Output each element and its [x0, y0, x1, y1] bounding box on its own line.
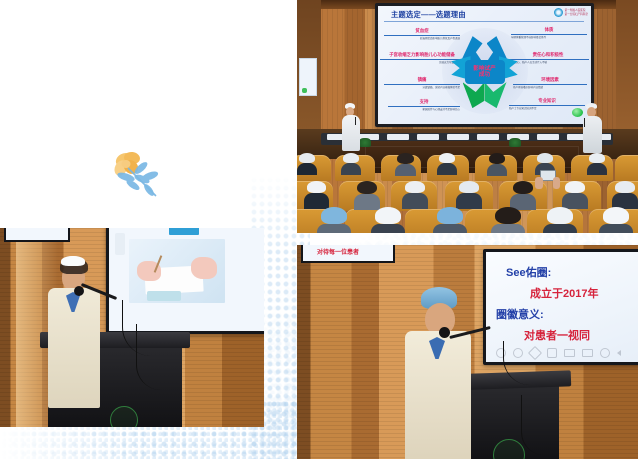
presenter-right: [583, 103, 602, 153]
slide-line-4: 对患者一视同: [524, 327, 590, 343]
label-title: 体质: [511, 27, 587, 33]
wall-monitor-left: 对待每一位患者: [301, 245, 395, 263]
audience-member: [565, 181, 585, 203]
plant-decor: [359, 138, 371, 147]
slide-topic-selection: 主题选定——选题理由 第一附属人民医院 第一分院妇产科科室 贫血症 妊娠期贫血影…: [378, 6, 591, 124]
audience-member: [537, 153, 553, 171]
more-icon[interactable]: [600, 348, 610, 358]
photo-nurse-presenting-bottom-right: 对待每一位患者 See佑圈: 成立于2017年 圈徽意义: 对患者一视同: [297, 245, 638, 459]
speaker-nurse: [405, 287, 471, 459]
audience-member: [307, 181, 326, 203]
speaker-nurse: [48, 256, 100, 406]
audience-member: [603, 207, 629, 233]
pinwheel-blade: [463, 82, 485, 108]
audience-member: [437, 207, 463, 233]
hospital-name-line1: 第一附属人民医院: [565, 9, 588, 12]
hospital-name-line2: 第一分院妇产科科室: [565, 13, 588, 16]
photo-nurse-presenting-bottom-left: [0, 228, 264, 427]
hospital-logo: 第一附属人民医院 第一分院妇产科科室: [554, 8, 588, 17]
audience-member: [397, 153, 414, 171]
hospital-emblem-icon: [110, 406, 138, 427]
watercolor-flower-icon: [104, 146, 174, 202]
plant-decor: [509, 138, 521, 147]
slide-line-3: 圈徽意义:: [496, 306, 544, 322]
photo-auditorium-wide-shot: 主题选定——选题理由 第一附属人民医院 第一分院妇产科科室 贫血症 妊娠期贫血影…: [297, 0, 638, 233]
wall-monitor: [299, 58, 317, 96]
gloved-hand-right: [191, 257, 217, 279]
presenter-left: [342, 103, 360, 151]
diagram-label-right-3: 环境因素 待产环境嘈杂影响产妇情绪: [513, 77, 587, 89]
center-label-line2: 成功: [479, 72, 490, 78]
label-title: 贫血症: [384, 28, 460, 34]
raised-hand: [553, 177, 560, 189]
green-dot-icon: [302, 88, 307, 93]
audience-member: [343, 153, 359, 171]
spotlight-icon[interactable]: [547, 348, 557, 358]
pinwheel-blade: [485, 82, 507, 108]
camera-icon[interactable]: [564, 349, 575, 357]
slide-side-object: [115, 233, 125, 255]
audience-member: [321, 207, 347, 233]
slide-title-rule: [384, 21, 584, 22]
audience-member: [489, 153, 505, 171]
audience-member: [459, 181, 479, 203]
microphone-head: [439, 327, 450, 338]
slide-accent-block: [169, 228, 199, 235]
side-panel-right: [616, 0, 638, 150]
audience-member: [589, 153, 605, 171]
mini-slide-text: 对待每一位患者: [317, 247, 359, 256]
audience-member: [547, 207, 573, 233]
projection-screen: 主题选定——选题理由 第一附属人民医院 第一分院妇产科科室 贫血症 妊娠期贫血影…: [375, 3, 594, 127]
slide-photo-frame: [129, 239, 225, 303]
audience-member: [375, 207, 401, 233]
microphone-head: [74, 286, 84, 296]
label-sub: 待产环境嘈杂影响产妇情绪: [513, 86, 587, 89]
slide-title: 主题选定——选题理由: [391, 10, 466, 20]
pinwheel-diagram: 影响试产 成功: [447, 36, 523, 108]
slide-line-2: 成立于2017年: [530, 285, 598, 301]
raised-hand: [535, 177, 543, 189]
tray-in-photo: [147, 291, 181, 301]
audience-member: [495, 207, 521, 233]
green-dot-icon: [572, 108, 583, 117]
pinwheel-center-label: 影响试产 成功: [465, 60, 505, 84]
chevron-left-icon[interactable]: [617, 350, 621, 356]
audience-member: [513, 181, 533, 203]
audience-member: [439, 153, 455, 171]
audience-member: [405, 181, 425, 203]
audience-member: [299, 153, 315, 171]
audience-area: [297, 147, 638, 233]
label-sub: 家属陪伴与心理支持不足影响信心: [388, 108, 460, 111]
wall-monitor-left: [4, 228, 70, 242]
slide-line-1: See佑圈:: [506, 264, 551, 280]
audience-member: [357, 181, 377, 203]
label-title: 环境因素: [513, 77, 587, 83]
hospital-emblem-icon: [554, 8, 563, 17]
pen-icon[interactable]: [528, 346, 542, 360]
audience-member: [615, 181, 635, 203]
comment-icon[interactable]: [582, 349, 593, 357]
photo-collage: 主题选定——选题理由 第一附属人民医院 第一分院妇产科科室 贫血症 妊娠期贫血影…: [0, 0, 638, 459]
